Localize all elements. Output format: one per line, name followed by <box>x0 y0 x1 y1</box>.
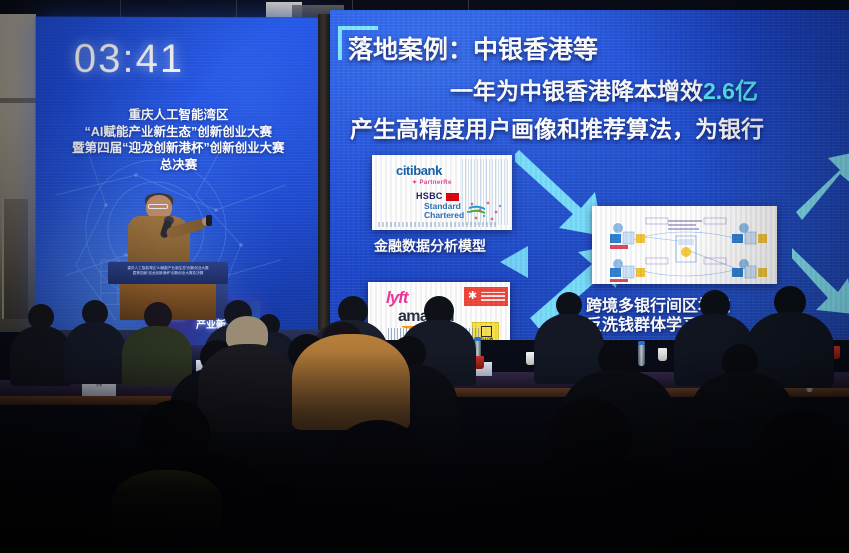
event-title-line-4: 总决赛 <box>44 156 313 173</box>
panel-financial-logos: citibank ✦ PartnerRe HSBC StandardCharte… <box>372 155 512 230</box>
slide-subline-2: 产生高精度用户画像和推荐算法，为银行 <box>350 110 764 144</box>
hsbc-mark <box>446 193 459 201</box>
blockchain-network-diagram <box>592 206 777 284</box>
pink-bank-logo: ✦ PartnerRe <box>412 179 452 186</box>
event-title-line-1: 重庆人工智能湾区 <box>44 107 313 124</box>
bottle-cap <box>638 341 645 345</box>
red-brand-logo: ✱ <box>464 287 508 306</box>
wall-trim <box>0 98 36 103</box>
screen-divider <box>318 14 330 336</box>
screen-left-title-block: 重庆人工智能湾区 “AI赋能产业新生态”创新创业大赛 暨第四届“迎龙创新港杯”创… <box>36 107 321 173</box>
red-brand-star-icon: ✱ <box>468 291 479 302</box>
lyft-logo: lyft <box>386 288 408 308</box>
standard-chartered-logo: StandardChartered <box>424 202 464 220</box>
event-title-line-2: “AI赋能产业新生态”创新创业大赛 <box>44 123 313 140</box>
hsbc-logo: HSBC <box>416 191 459 201</box>
arrow-up-right-far-icon <box>796 150 849 222</box>
left-wall <box>0 14 36 332</box>
speaker-glasses <box>148 204 168 209</box>
slide-subline-1-highlight: 2.6亿 <box>703 78 758 104</box>
presentation-clicker-icon <box>206 215 212 226</box>
panel-a-caption: 金融数据分析模型 <box>374 236 486 256</box>
panel-blockchain-network <box>592 206 777 284</box>
slide-subline-1: 一年为中银香港降本增效2.6亿 <box>450 72 758 106</box>
podium-banner: 重庆人工智能湾区“AI赋能产业新生态”创新创业大赛 暨第四届“迎龙创新港杯”创新… <box>108 262 228 284</box>
arrow-left-accent-icon <box>490 242 530 282</box>
red-brand-wordmark <box>481 292 505 301</box>
citibank-logo: citibank <box>396 163 442 178</box>
slide-heading: 落地案例：中银香港等 <box>348 30 598 66</box>
panel-a-scatter-dots <box>466 198 506 224</box>
panel-a-footer-bar <box>378 222 498 227</box>
side-door <box>2 199 28 319</box>
slide-subline-1-text: 一年为中银香港降本增效 <box>450 78 703 104</box>
foreground-shadow-overlay <box>0 353 849 553</box>
bottle-cap <box>474 337 481 341</box>
countdown-timer: 03:41 <box>74 37 184 82</box>
conference-hall-photo: 03:41 重庆人工智能湾区 “AI赋能产业新生态”创新创业大赛 暨第四届“迎龙… <box>0 0 849 553</box>
event-title-line-3: 暨第四届“迎龙创新港杯”创新创业大赛 <box>44 140 313 157</box>
podium-banner-line-2: 暨第四届“迎龙创新港杯”创新创业大赛总决赛 <box>114 271 222 276</box>
yellow-pages-mark <box>481 326 492 337</box>
podium-banner-text: 重庆人工智能湾区“AI赋能产业新生态”创新创业大赛 暨第四届“迎龙创新港杯”创新… <box>114 266 222 277</box>
led-screen-right: 落地案例：中银香港等 一年为中银香港降本增效2.6亿 产生高精度用户画像和推荐算… <box>330 10 849 340</box>
citibank-wordmark-tail: bank <box>413 163 442 178</box>
